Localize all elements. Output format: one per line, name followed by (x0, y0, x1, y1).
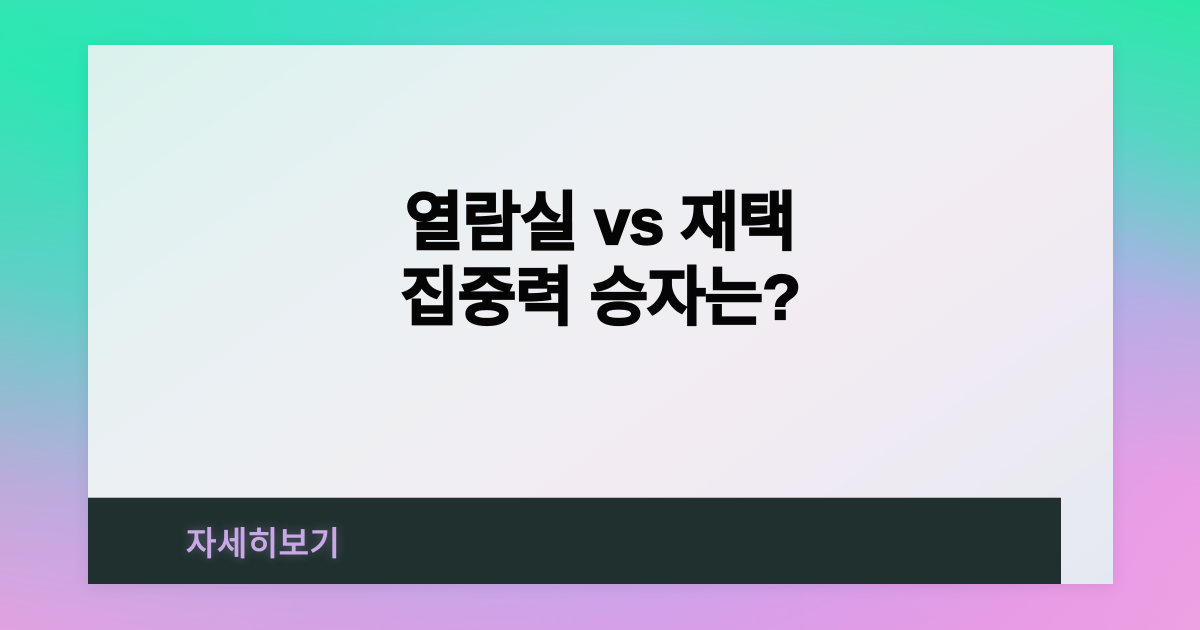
cta-band[interactable]: 자세히보기 (88, 498, 1061, 584)
page-title: 열람실 vs 재택 집중력 승자는? (401, 186, 801, 357)
content-card: 열람실 vs 재택 집중력 승자는? 자세히보기 (88, 45, 1113, 584)
poster-canvas: 열람실 vs 재택 집중력 승자는? 자세히보기 (0, 0, 1200, 630)
cta-label[interactable]: 자세히보기 (186, 517, 340, 565)
headline-area: 열람실 vs 재택 집중력 승자는? (88, 45, 1113, 498)
